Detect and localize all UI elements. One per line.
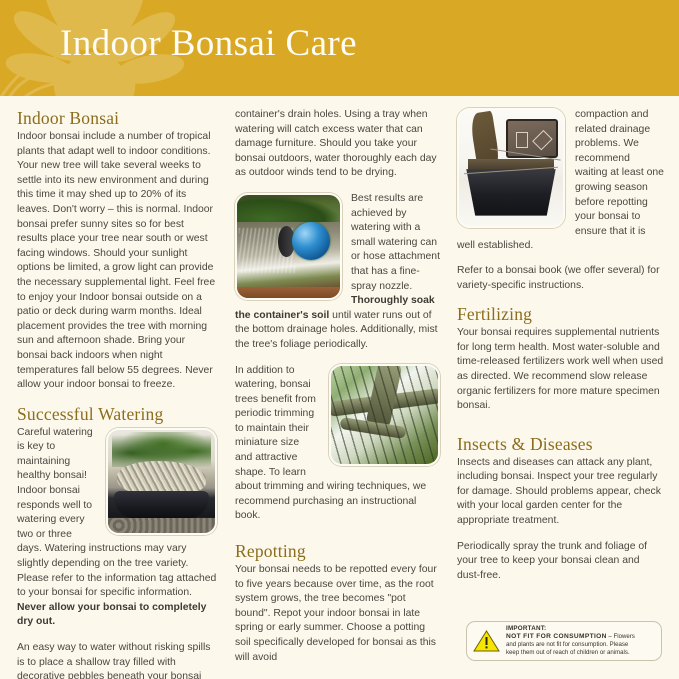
photo-rock-layer — [117, 461, 207, 496]
bonsai-in-black-pot-photo — [106, 428, 217, 535]
paragraph-indoor-bonsai: Indoor bonsai include a number of tropic… — [17, 130, 217, 393]
photo-bowl-layer — [114, 491, 208, 519]
photo-blue-sprayer — [292, 222, 330, 260]
warning-line-3: and plants are not fit for consumption. … — [506, 641, 635, 649]
paragraph-insects: Insects and diseases can attack any plan… — [457, 456, 664, 529]
column-right: compaction and related drainage problems… — [457, 108, 664, 594]
page-title: Indoor Bonsai Care — [60, 22, 357, 65]
column-middle: container's drain holes. Using a tray wh… — [235, 108, 440, 676]
photo-pot-layer — [466, 169, 555, 215]
paragraph-drain-holes: container's drain holes. Using a tray wh… — [235, 108, 440, 181]
warning-line-4: keep them out of reach of children or an… — [506, 649, 635, 657]
paragraph-spray-trunk: Periodically spray the trunk and foliage… — [457, 540, 664, 584]
paragraph-repotting: Your bonsai needs to be repotted every f… — [235, 563, 440, 665]
heading-successful-watering: Successful Watering — [17, 404, 217, 424]
photo-soil-rim — [237, 287, 340, 298]
column-left: Indoor Bonsai Indoor bonsai include a nu… — [17, 108, 217, 679]
paragraph-fertilizing: Your bonsai requires supplemental nutrie… — [457, 326, 664, 414]
paragraph-bonsai-book: Refer to a bonsai book (we offer several… — [457, 264, 664, 293]
warning-line-not-fit: NOT FIT FOR CONSUMPTION – Flowers — [506, 633, 635, 641]
pot-drainage-screen-photo — [457, 108, 565, 228]
heading-repotting: Repotting — [235, 541, 440, 561]
warning-not-fit-rest: – Flowers — [607, 633, 635, 640]
best-results-text: Best results are achieved by watering wi… — [351, 193, 440, 292]
watering-can-spray-photo — [235, 193, 342, 300]
photo-pebbles-layer — [108, 518, 215, 532]
wired-bonsai-branch-photo — [329, 364, 440, 466]
warning-line-important: IMPORTANT: — [506, 625, 635, 633]
heading-indoor-bonsai: Indoor Bonsai — [17, 108, 217, 128]
warning-text-block: IMPORTANT: NOT FIT FOR CONSUMPTION – Flo… — [506, 625, 635, 657]
warning-triangle-icon — [473, 629, 500, 653]
watering-bold-warning: Never allow your bonsai to completely dr… — [17, 602, 206, 628]
photo-training-wires — [331, 366, 438, 464]
important-warning-box: IMPORTANT: NOT FIT FOR CONSUMPTION – Flo… — [466, 621, 662, 661]
heading-fertilizing: Fertilizing — [457, 304, 664, 324]
photo-leaves-layer — [237, 195, 340, 222]
paragraph-watering-tray: An easy way to water without risking spi… — [17, 641, 217, 679]
bonsai-care-page: Indoor Bonsai Care Indoor Bonsai Indoor … — [0, 0, 679, 679]
page-header: Indoor Bonsai Care — [0, 0, 679, 96]
warning-not-fit-bold: NOT FIT FOR CONSUMPTION — [506, 633, 607, 640]
heading-insects-diseases: Insects & Diseases — [457, 434, 664, 454]
